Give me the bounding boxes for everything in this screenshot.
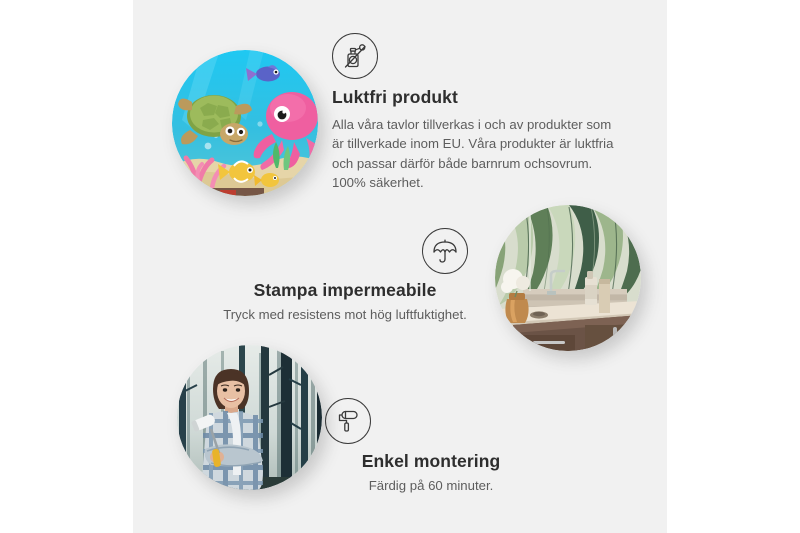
umbrella-icon (422, 228, 468, 274)
forest-photo (177, 345, 322, 490)
icon-row (222, 228, 468, 274)
product-image-ocean (172, 50, 318, 196)
feature-description: Färdig på 60 minuter. (325, 476, 537, 495)
feature-block-odourless: Luktfri produkt Alla våra tavlor tillver… (332, 33, 624, 193)
ocean-illustration (172, 50, 318, 196)
bathroom-svg (495, 205, 641, 351)
forest-svg (177, 345, 322, 490)
feature-title: Enkel montering (325, 451, 537, 472)
feature-block-waterproof: Stampa impermeabile Tryck med resistens … (222, 228, 468, 324)
icon-row (325, 398, 537, 444)
feature-block-mounting: Enkel montering Färdig på 60 minuter. (325, 398, 537, 495)
feature-description: Tryck med resistens mot hög luftfuktighe… (222, 305, 468, 324)
ocean-svg (172, 50, 318, 196)
paint-roller-icon (325, 398, 371, 444)
feature-title: Stampa impermeabile (222, 280, 468, 301)
product-image-forest (177, 345, 322, 490)
bathroom-photo (495, 205, 641, 351)
feature-title: Luktfri produkt (332, 87, 624, 108)
feature-description: Alla våra tavlor tillverkas i och av pro… (332, 115, 622, 193)
product-features-infographic: Luktfri produkt Alla våra tavlor tillver… (0, 0, 800, 533)
no-perfume-icon (332, 33, 378, 79)
product-image-bathroom (495, 205, 641, 351)
